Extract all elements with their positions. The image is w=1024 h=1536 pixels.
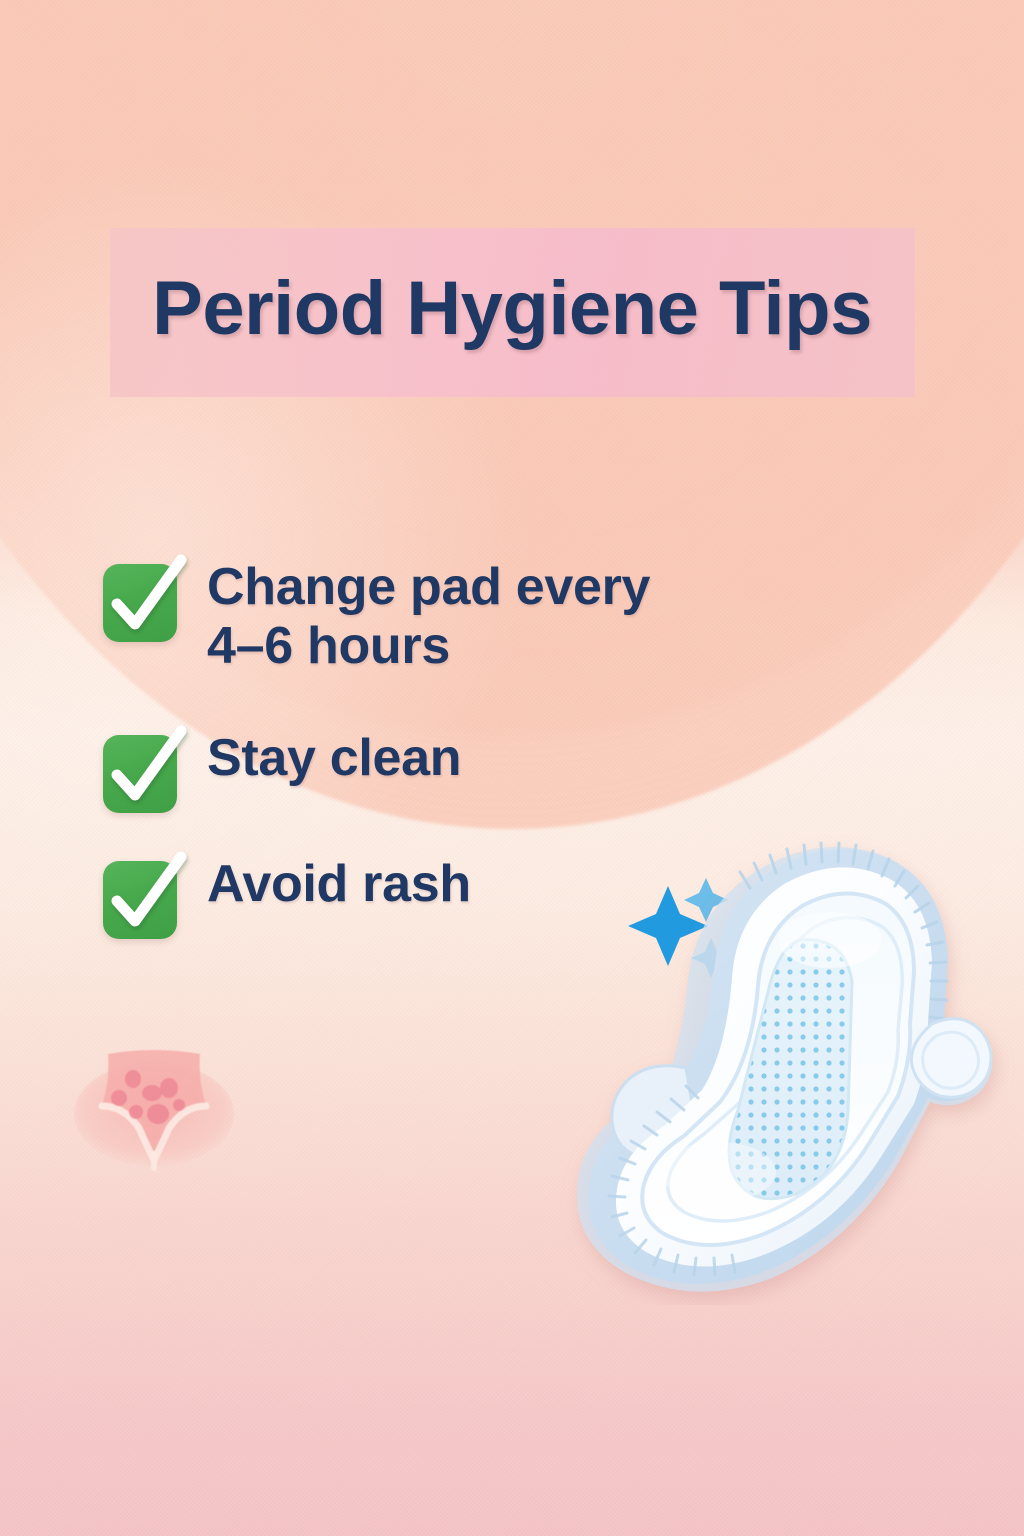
list-item-label: Change pad every 4–6 hours: [207, 558, 650, 677]
list-item-label: Stay clean: [207, 729, 461, 788]
poster-canvas: Period Hygiene Tips Change pad every 4–6…: [0, 0, 1024, 1536]
list-item-label: Avoid rash: [207, 855, 471, 914]
checkmark-glyph: [101, 725, 193, 817]
checkmark-glyph: [101, 851, 193, 943]
sanitary-pad-graphic: [500, 760, 1020, 1305]
check-icon[interactable]: [103, 564, 177, 642]
rash-bikini-area-icon: [66, 1036, 242, 1178]
list-item-label-line2: 4–6 hours: [207, 617, 650, 676]
sanitary-pad-illustration: [500, 760, 1020, 1305]
page-title: Period Hygiene Tips: [0, 265, 1024, 352]
check-icon[interactable]: [103, 861, 177, 939]
list-item[interactable]: Change pad every 4–6 hours: [103, 558, 883, 677]
checkmark-glyph: [101, 554, 193, 646]
list-item-label-line1: Change pad every: [207, 558, 650, 617]
check-icon[interactable]: [103, 735, 177, 813]
